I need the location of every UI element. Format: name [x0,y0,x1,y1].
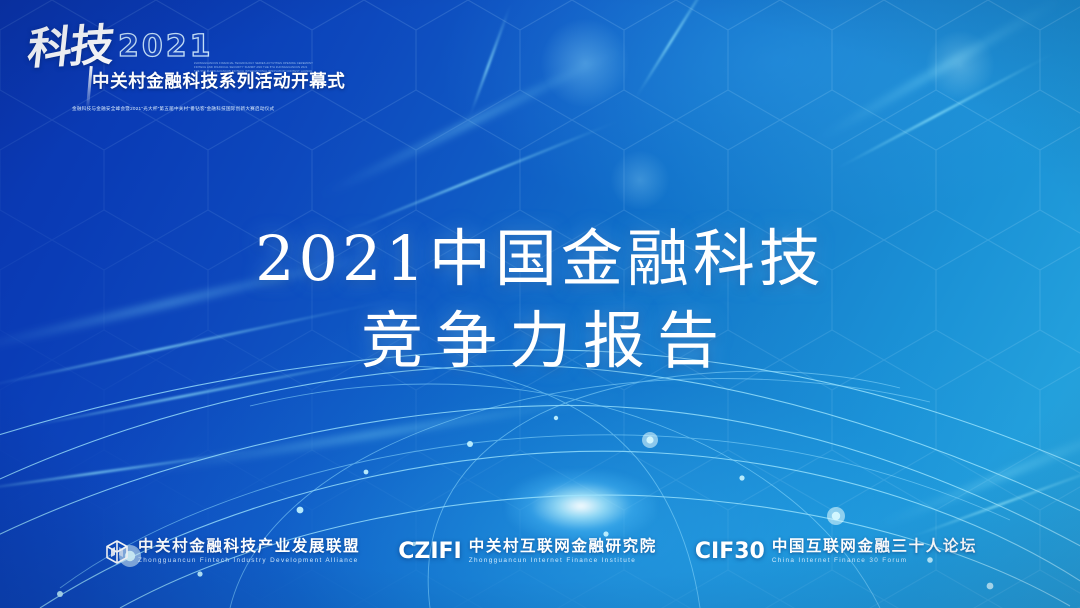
hero-title-line-2: 竞争力报告 [0,300,1080,382]
logo-alliance-cn: 中关村金融科技产业发展联盟 [138,538,360,556]
banner-subtitle: 金融科技与金融安全峰会暨2021“光大杯”第五届中关村“番钻客”金融科技国际创新… [72,106,274,112]
logo-czifi: CZIFI 中关村互联网金融研究院 Zhongguancun Internet … [398,538,657,566]
banner-brush-word: 科技 [25,24,114,72]
logo-cif30: CIF30 中国互联网金融三十人论坛 China Internet Financ… [695,538,977,566]
hero-title-line-1: 2021中国金融科技 [0,218,1080,300]
sponsor-logo-bar: 中关村金融科技产业发展联盟 Zhongguancun Fintech Indus… [0,538,1080,566]
banner-year: 2021 [118,32,214,62]
network-core-glow [506,470,656,542]
logo-cif30-cn: 中国互联网金融三十人论坛 [772,538,977,556]
alliance-cube-icon [103,538,131,566]
logo-alliance-en: Zhongguancun Fintech Industry Developmen… [138,556,360,566]
logo-czifi-en: Zhongguancun Internet Finance Institute [469,556,657,566]
logo-czifi-cn: 中关村互联网金融研究院 [469,538,657,556]
logo-cif30-en: China Internet Finance 30 Forum [772,556,977,566]
network-globe-graphic [0,348,1080,608]
cif30-wordmark-text: CIF30 [695,541,765,563]
hero-title: 2021中国金融科技 竞争力报告 [0,218,1080,382]
banner-main-title: 中关村金融科技系列活动开幕式 [92,68,345,93]
event-banner-watermark: 科技 2021 ZHONGGUANCUN FINANCIAL TECHNOLOG… [22,20,322,102]
czifi-wordmark-icon: CZIFI [398,541,462,563]
cif30-wordmark-icon: CIF30 [695,541,765,563]
czifi-wordmark-text: CZIFI [398,541,462,563]
poster-slide: 科技 2021 ZHONGGUANCUN FINANCIAL TECHNOLOG… [0,0,1080,608]
logo-zgc-fintech-alliance: 中关村金融科技产业发展联盟 Zhongguancun Fintech Indus… [103,538,360,566]
